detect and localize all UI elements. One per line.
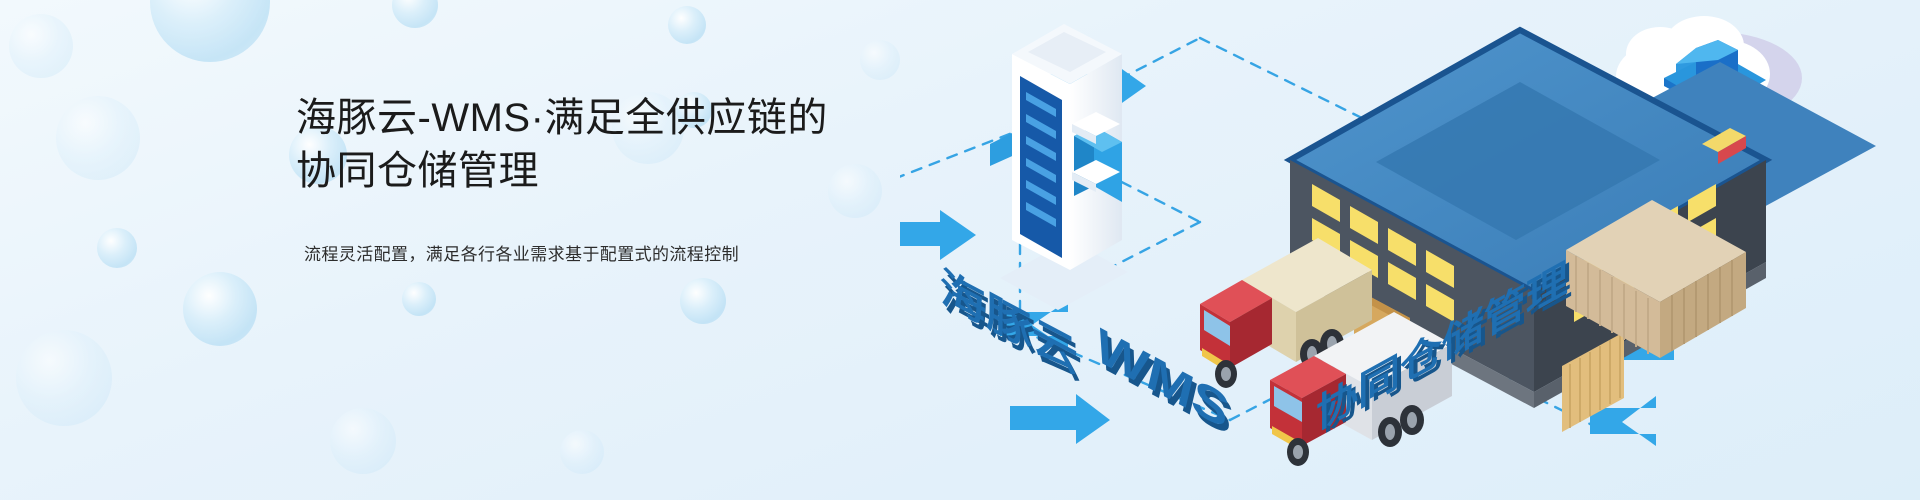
bubble-decor [560, 430, 604, 474]
page-title: 海豚云-WMS·满足全供应链的 协同仓储管理 [296, 92, 916, 198]
bubble-decor [402, 282, 436, 316]
flow-arrow [1010, 394, 1110, 444]
bubble-decor [56, 96, 140, 180]
bubble-decor [330, 408, 396, 474]
bubble-decor [16, 330, 112, 426]
bubble-decor [150, 0, 270, 62]
bubble-decor [668, 6, 706, 44]
bubble-decor [183, 272, 257, 346]
hero-banner: 海豚云-WMS·满足全供应链的 协同仓储管理 流程灵活配置，满足各行各业需求基于… [0, 0, 1920, 500]
hero-copy: 海豚云-WMS·满足全供应链的 协同仓储管理 流程灵活配置，满足各行各业需求基于… [296, 92, 916, 267]
bubble-decor [680, 278, 726, 324]
page-subtitle: 流程灵活配置，满足各行各业需求基于配置式的流程控制 [304, 242, 916, 268]
bubble-decor [97, 228, 137, 268]
bubble-decor [392, 0, 438, 28]
bubble-decor [9, 14, 73, 78]
flow-arrow [900, 210, 976, 260]
bubble-decor [860, 40, 900, 80]
warehouse-illustration: 海豚云 海豚云 WMS WMS 协同仓储管理 协同仓储管理 [900, 0, 1920, 500]
